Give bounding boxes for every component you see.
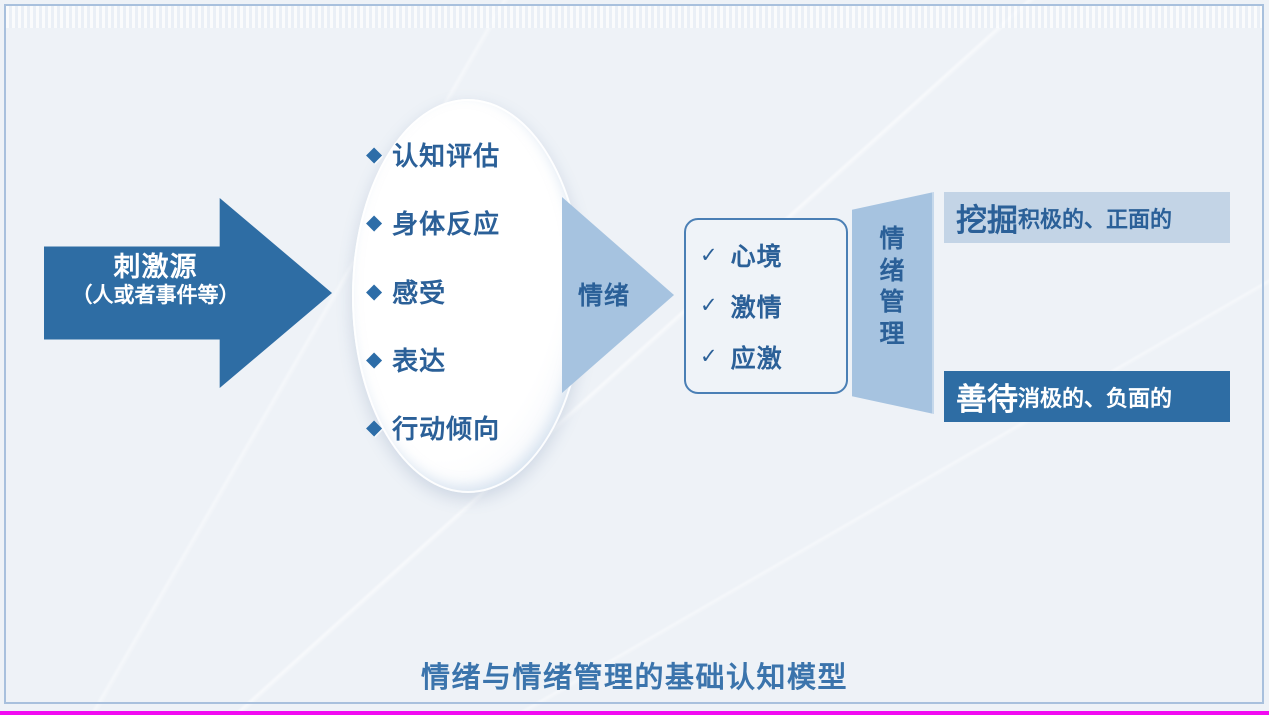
outcome-positive-rest: 积极的、正面的 xyxy=(1018,202,1172,234)
slide-canvas: 刺激源 （人或者事件等） ◆ 认知评估 ◆ 身体反应 ◆ 感受 ◆ 表达 ◆ 行… xyxy=(0,0,1269,715)
outcome-banner-negative[interactable]: 善待 消极的、负面的 xyxy=(944,371,1230,422)
top-edge-texture xyxy=(6,6,1262,28)
emotion-management-trapezoid[interactable] xyxy=(852,192,934,414)
emotion-components-ellipse[interactable] xyxy=(352,99,584,493)
bottom-accent-line xyxy=(0,711,1269,715)
outcome-positive-strong: 挖掘 xyxy=(956,195,1018,240)
emotion-types-box[interactable] xyxy=(684,218,848,394)
slide-border-frame xyxy=(4,4,1264,704)
background-diagonal-texture xyxy=(0,0,1269,715)
outcome-negative-strong: 善待 xyxy=(956,374,1018,419)
slide-caption: 情绪与情绪管理的基础认知模型 xyxy=(0,654,1269,696)
stimulus-arrow-shape[interactable] xyxy=(44,198,332,388)
diamond-bullet-icon: ◆ xyxy=(366,144,383,165)
emotion-arrow-shape[interactable] xyxy=(562,197,674,393)
outcome-banner-positive[interactable]: 挖掘 积极的、正面的 xyxy=(944,192,1230,243)
outcome-negative-rest: 消极的、负面的 xyxy=(1018,381,1172,413)
